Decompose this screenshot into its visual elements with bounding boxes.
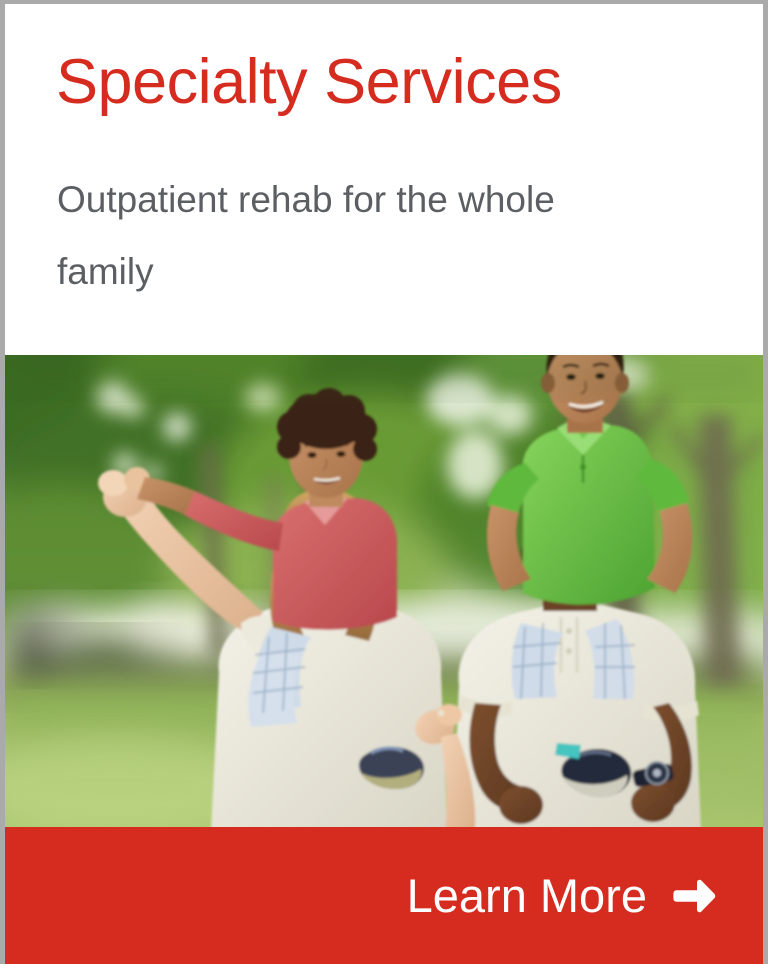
family-photo <box>5 355 763 831</box>
promo-text-block: Specialty Services Outpatient rehab for … <box>5 4 763 355</box>
learn-more-label: Learn More <box>407 872 647 919</box>
specialty-services-promo-card[interactable]: Specialty Services Outpatient rehab for … <box>0 0 768 964</box>
page-title: Specialty Services <box>56 46 562 118</box>
family-photo-illustration <box>5 355 763 831</box>
arrow-right-icon <box>673 876 717 916</box>
promo-subtitle: Outpatient rehab for the whole family <box>57 164 617 308</box>
learn-more-cta-bar[interactable]: Learn More <box>5 827 763 964</box>
